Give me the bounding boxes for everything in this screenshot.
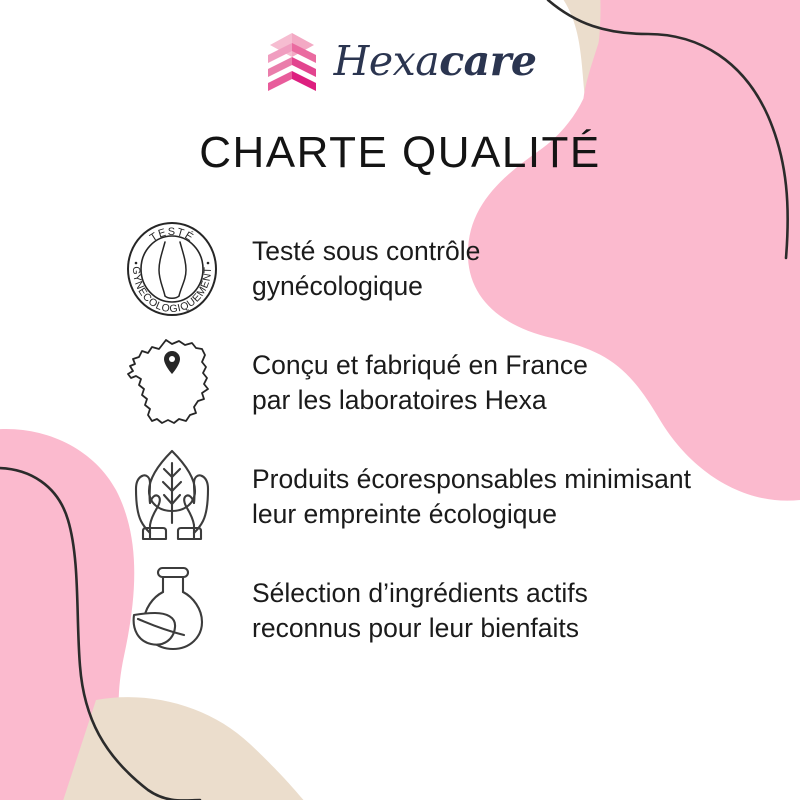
hands-holding-leaf-icon	[108, 445, 236, 549]
svg-text:TESTÉ: TESTÉ	[148, 226, 197, 244]
badge-top-text: TESTÉ	[148, 226, 197, 244]
feature-line-2: gynécologique	[252, 269, 480, 304]
bottom-left-beige-blob	[60, 697, 312, 800]
feature-text: Produits écoresponsables minimisant leur…	[236, 462, 691, 532]
feature-row: Conçu et fabriqué en France par les labo…	[108, 326, 768, 440]
feature-line-2: reconnus pour leur bienfaits	[252, 611, 588, 646]
badge-bottom-text: GYNÉCOLOGIQUEMENT	[130, 266, 214, 315]
svg-text:GYNÉCOLOGIQUEMENT: GYNÉCOLOGIQUEMENT	[130, 266, 214, 315]
brand-logo: Hexa care	[0, 26, 800, 96]
feature-row: TESTÉ GYNÉCOLOGIQUEMENT Testé sous contr…	[108, 212, 768, 326]
quality-charter-poster: Hexa care CHARTE QUALITÉ	[0, 0, 800, 800]
feature-list: TESTÉ GYNÉCOLOGIQUEMENT Testé sous contr…	[108, 212, 768, 668]
feature-text: Conçu et fabriqué en France par les labo…	[236, 348, 588, 418]
tested-gynecologically-badge-icon: TESTÉ GYNÉCOLOGIQUEMENT	[108, 217, 236, 321]
wordmark-care: care	[439, 37, 536, 85]
feature-row: Produits écoresponsables minimisant leur…	[108, 440, 768, 554]
feature-text: Sélection d’ingrédients actifs reconnus …	[236, 576, 588, 646]
feature-line-1: Testé sous contrôle	[252, 234, 480, 269]
page-title: CHARTE QUALITÉ	[0, 128, 800, 178]
feature-line-1: Conçu et fabriqué en France	[252, 348, 588, 383]
flask-with-leaf-icon	[108, 559, 236, 663]
brand-wordmark: Hexa care	[334, 37, 537, 85]
feature-line-2: par les laboratoires Hexa	[252, 383, 588, 418]
feature-line-1: Sélection d’ingrédients actifs	[252, 576, 588, 611]
feature-line-2: leur empreinte écologique	[252, 497, 691, 532]
wordmark-hexa: Hexa	[334, 37, 440, 85]
france-map-pin-icon	[108, 331, 236, 435]
feature-text: Testé sous contrôle gynécologique	[236, 234, 480, 304]
feature-line-1: Produits écoresponsables minimisant	[252, 462, 691, 497]
hexacare-leaf-logo-icon	[264, 31, 320, 91]
feature-row: Sélection d’ingrédients actifs reconnus …	[108, 554, 768, 668]
